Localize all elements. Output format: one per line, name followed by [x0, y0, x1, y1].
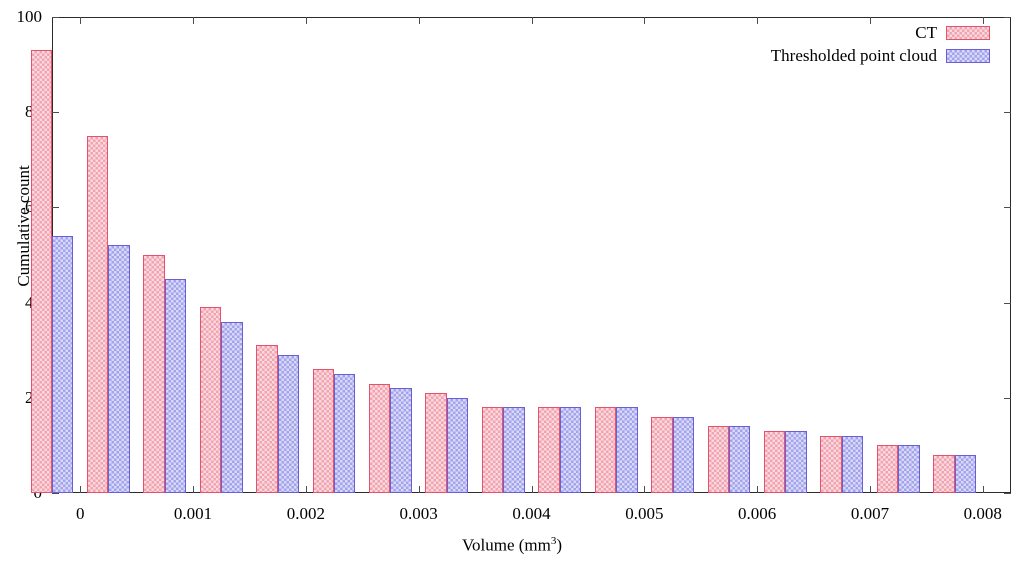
x-tick-mark: [80, 486, 81, 493]
x-axis-title-base: Volume (mm: [462, 536, 551, 555]
y-tick-label: 100: [0, 8, 42, 25]
x-tick-mark: [983, 17, 984, 24]
x-tick-mark: [80, 17, 81, 24]
legend-label: Thresholded point cloud: [771, 47, 937, 64]
x-tick-mark: [757, 17, 758, 24]
y-tick-mark: [52, 493, 59, 494]
y-axis-title: Cumulative count: [14, 116, 34, 336]
x-tick-mark: [419, 486, 420, 493]
y-tick-mark: [52, 112, 59, 113]
x-tick-label: 0.007: [851, 505, 889, 522]
y-tick-mark: [1004, 207, 1011, 208]
legend: CTThresholded point cloud: [771, 24, 990, 64]
x-tick-mark: [983, 486, 984, 493]
legend-swatch-tpc: [946, 49, 990, 63]
x-tick-mark: [532, 486, 533, 493]
x-tick-mark: [870, 486, 871, 493]
y-tick-mark: [52, 398, 59, 399]
x-tick-label: 0.004: [512, 505, 550, 522]
y-tick-mark: [1004, 17, 1011, 18]
x-tick-mark: [306, 17, 307, 24]
x-tick-mark: [757, 486, 758, 493]
x-tick-label: 0.006: [738, 505, 776, 522]
legend-label: CT: [915, 24, 937, 41]
x-tick-label: 0.003: [400, 505, 438, 522]
y-tick-mark: [52, 303, 59, 304]
legend-swatch-ct: [946, 26, 990, 40]
y-tick-mark: [1004, 493, 1011, 494]
x-tick-mark: [419, 17, 420, 24]
x-tick-mark: [532, 17, 533, 24]
y-tick-mark: [52, 17, 59, 18]
x-tick-label: 0: [76, 505, 85, 522]
legend-item[interactable]: CT: [915, 24, 990, 41]
y-tick-mark: [1004, 303, 1011, 304]
y-tick-mark: [1004, 398, 1011, 399]
y-tick-mark: [1004, 112, 1011, 113]
y-tick-mark: [52, 207, 59, 208]
x-tick-label: 0.005: [625, 505, 663, 522]
plot-area: [52, 17, 1011, 493]
y-tick-label: 20: [0, 389, 42, 406]
x-tick-mark: [193, 17, 194, 24]
legend-item[interactable]: Thresholded point cloud: [771, 47, 990, 64]
x-tick-label: 0.001: [174, 505, 212, 522]
x-tick-label: 0.002: [287, 505, 325, 522]
x-tick-label: 0.008: [964, 505, 1002, 522]
x-tick-mark: [644, 486, 645, 493]
x-axis-title: Volume (mm3): [0, 535, 1024, 556]
x-tick-mark: [644, 17, 645, 24]
x-axis-title-tail: ): [556, 536, 562, 555]
y-tick-label: 0: [0, 484, 42, 501]
x-tick-mark: [306, 486, 307, 493]
x-tick-mark: [870, 17, 871, 24]
x-tick-mark: [193, 486, 194, 493]
bar-chart-figure: 020406080100 00.0010.0020.0030.0040.0050…: [0, 0, 1024, 576]
